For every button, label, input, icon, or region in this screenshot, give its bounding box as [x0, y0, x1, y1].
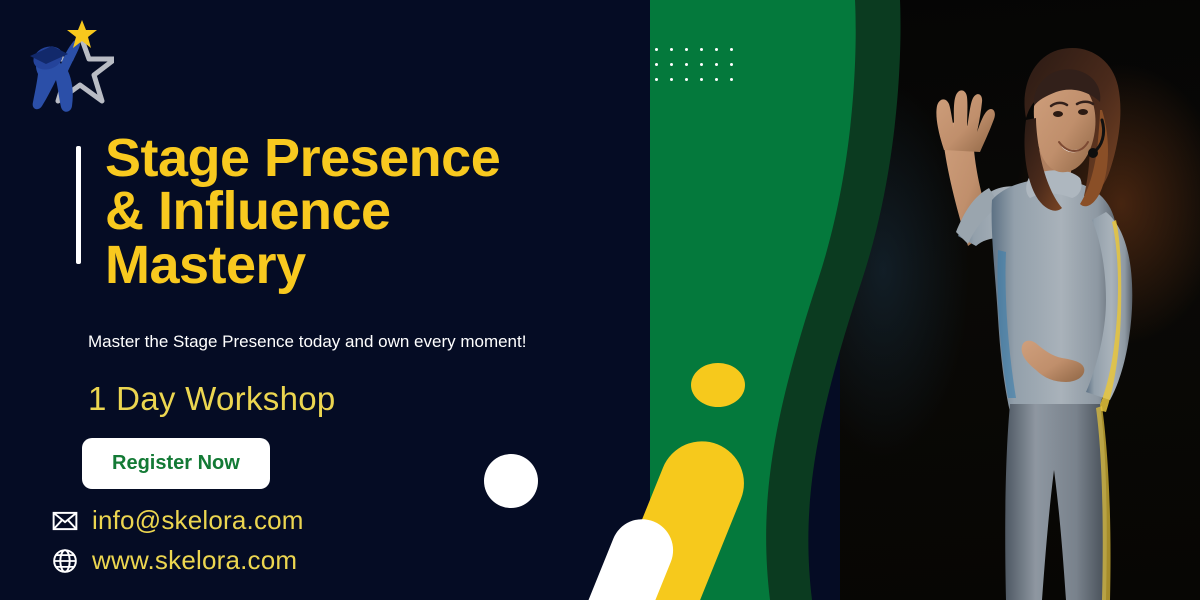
decorative-dot [715, 63, 718, 66]
decorative-dot [730, 78, 733, 81]
decorative-dot [685, 48, 688, 51]
contact-email-text: info@skelora.com [92, 505, 304, 536]
register-now-button[interactable]: Register Now [82, 438, 270, 489]
decorative-dot [700, 78, 703, 81]
workshop-duration-label: 1 Day Workshop [88, 380, 336, 418]
contact-website-text: www.skelora.com [92, 545, 297, 576]
title-block: Stage Presence & Influence Mastery [76, 132, 500, 292]
skelora-logo [18, 14, 114, 118]
decorative-dot [655, 78, 658, 81]
globe-icon [52, 548, 78, 574]
decorative-dot [730, 48, 733, 51]
decorative-dot [670, 63, 673, 66]
contact-block: info@skelora.com www.skelora.com [52, 505, 304, 585]
event-banner: Stage Presence & Influence Mastery Maste… [0, 0, 1200, 600]
decorative-dot [715, 78, 718, 81]
title-accent-bar [76, 146, 81, 264]
decorative-dot [670, 78, 673, 81]
decorative-dot [670, 48, 673, 51]
decorative-dot [685, 63, 688, 66]
contact-website-row[interactable]: www.skelora.com [52, 545, 304, 576]
decorative-dot [700, 63, 703, 66]
decorative-dot [715, 48, 718, 51]
envelope-icon [52, 508, 78, 534]
subtitle-text: Master the Stage Presence today and own … [88, 330, 588, 354]
decorative-dot [655, 48, 658, 51]
page-title: Stage Presence & Influence Mastery [105, 132, 500, 292]
contact-email-row[interactable]: info@skelora.com [52, 505, 304, 536]
decorative-dot [730, 63, 733, 66]
decorative-dot [700, 48, 703, 51]
decorative-dot [685, 78, 688, 81]
decorative-dot [655, 63, 658, 66]
dot-grid-decoration [655, 48, 745, 93]
